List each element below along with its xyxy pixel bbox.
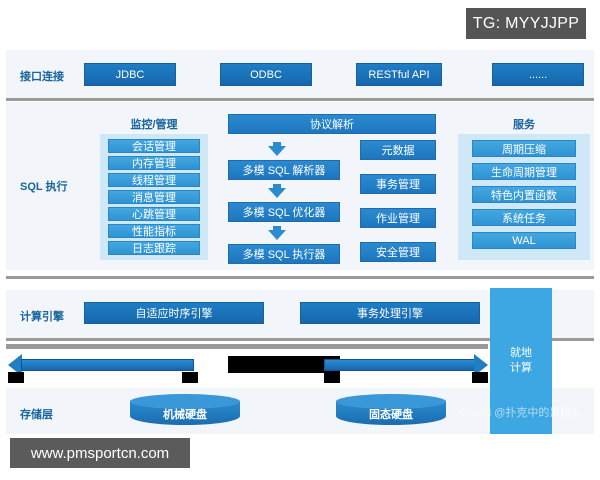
- data-flow-arrow-left-icon: [8, 354, 194, 376]
- monitoring-item-thread[interactable]: 线程管理: [108, 173, 200, 187]
- management-item-job[interactable]: 作业管理: [360, 208, 436, 228]
- interface-item-more[interactable]: ......: [492, 63, 584, 86]
- storage-row-label: 存储层: [20, 406, 53, 422]
- monitoring-item-session[interactable]: 会话管理: [108, 139, 200, 153]
- interface-item-odbc[interactable]: ODBC: [220, 63, 312, 86]
- pipeline-header-protocol-parse[interactable]: 协议解析: [228, 114, 436, 134]
- telegram-watermark: TG: MYYJJPP: [466, 8, 586, 39]
- services-panel: 周期压缩 生命周期管理 特色内置函数 系统任务 WAL: [458, 134, 590, 260]
- pipeline-stage-optimizer[interactable]: 多模 SQL 优化器: [228, 202, 340, 222]
- pipeline-stage-parser[interactable]: 多模 SQL 解析器: [228, 160, 340, 180]
- services-item-wal[interactable]: WAL: [472, 232, 576, 249]
- monitoring-item-message[interactable]: 消息管理: [108, 190, 200, 204]
- architecture-diagram: 接口连接 JDBC ODBC RESTful API ...... SQL 执行…: [6, 50, 594, 422]
- pipeline-arrow-1-icon: [268, 146, 286, 156]
- interface-connection-band: 接口连接 JDBC ODBC RESTful API ......: [6, 50, 594, 98]
- interface-row-label: 接口连接: [20, 68, 64, 84]
- services-column-title: 服务: [464, 116, 584, 132]
- compute-engine-item-adaptive-timeseries[interactable]: 自适应时序引擎: [84, 302, 264, 324]
- redaction-block-2: [182, 372, 198, 383]
- storage-item-hdd[interactable]: 机械硬盘: [130, 394, 240, 428]
- redaction-block-4: [472, 372, 488, 383]
- divider-interface-sql: [6, 98, 594, 101]
- url-watermark: www.pmsportcn.com: [10, 438, 190, 468]
- compute-engine-row-label: 计算引擎: [20, 308, 64, 324]
- monitoring-panel: 会话管理 内存管理 线程管理 消息管理 心跳管理 性能指标 日志跟踪: [100, 134, 208, 260]
- insitu-compute-panel[interactable]: 就地 计算: [490, 288, 552, 434]
- services-item-lifecycle-management[interactable]: 生命周期管理: [472, 163, 576, 180]
- monitoring-column-title: 监控/管理: [106, 116, 202, 132]
- management-item-security[interactable]: 安全管理: [360, 242, 436, 262]
- flow-top-strip: [6, 344, 488, 349]
- pipeline-arrow-2-icon: [268, 188, 286, 198]
- compute-engine-item-transaction[interactable]: 事务处理引擎: [300, 302, 480, 324]
- monitoring-item-heartbeat[interactable]: 心跳管理: [108, 207, 200, 221]
- interface-item-jdbc[interactable]: JDBC: [84, 63, 176, 86]
- ssd-label: 固态硬盘: [336, 404, 446, 424]
- data-flow-arrow-right-icon: [324, 354, 488, 376]
- services-item-builtin-functions[interactable]: 特色内置函数: [472, 186, 576, 203]
- hdd-label: 机械硬盘: [130, 404, 240, 424]
- interface-item-restful-api[interactable]: RESTful API: [356, 63, 442, 86]
- monitoring-item-performance[interactable]: 性能指标: [108, 224, 200, 238]
- monitoring-item-memory[interactable]: 内存管理: [108, 156, 200, 170]
- insitu-compute-label-line1: 就地: [510, 346, 532, 361]
- insitu-compute-label: 就地 计算: [510, 346, 532, 376]
- divider-sql-engine: [6, 276, 594, 279]
- sql-execution-row-label: SQL 执行: [20, 178, 67, 194]
- storage-item-ssd[interactable]: 固态硬盘: [336, 394, 446, 428]
- pipeline-stage-executor[interactable]: 多模 SQL 执行器: [228, 244, 340, 264]
- pipeline-arrow-3-icon: [268, 230, 286, 240]
- services-item-system-tasks[interactable]: 系统任务: [472, 209, 576, 226]
- redaction-block-3: [324, 372, 340, 383]
- services-item-periodic-compression[interactable]: 周期压缩: [472, 140, 576, 157]
- management-item-metadata[interactable]: 元数据: [360, 140, 436, 160]
- management-item-transaction[interactable]: 事务管理: [360, 174, 436, 194]
- redaction-block-1: [8, 372, 24, 383]
- monitoring-item-log-trace[interactable]: 日志跟踪: [108, 241, 200, 255]
- insitu-compute-label-line2: 计算: [510, 361, 532, 376]
- sql-execution-band: SQL 执行 监控/管理 会话管理 内存管理 线程管理 消息管理 心跳管理 性能…: [6, 102, 594, 270]
